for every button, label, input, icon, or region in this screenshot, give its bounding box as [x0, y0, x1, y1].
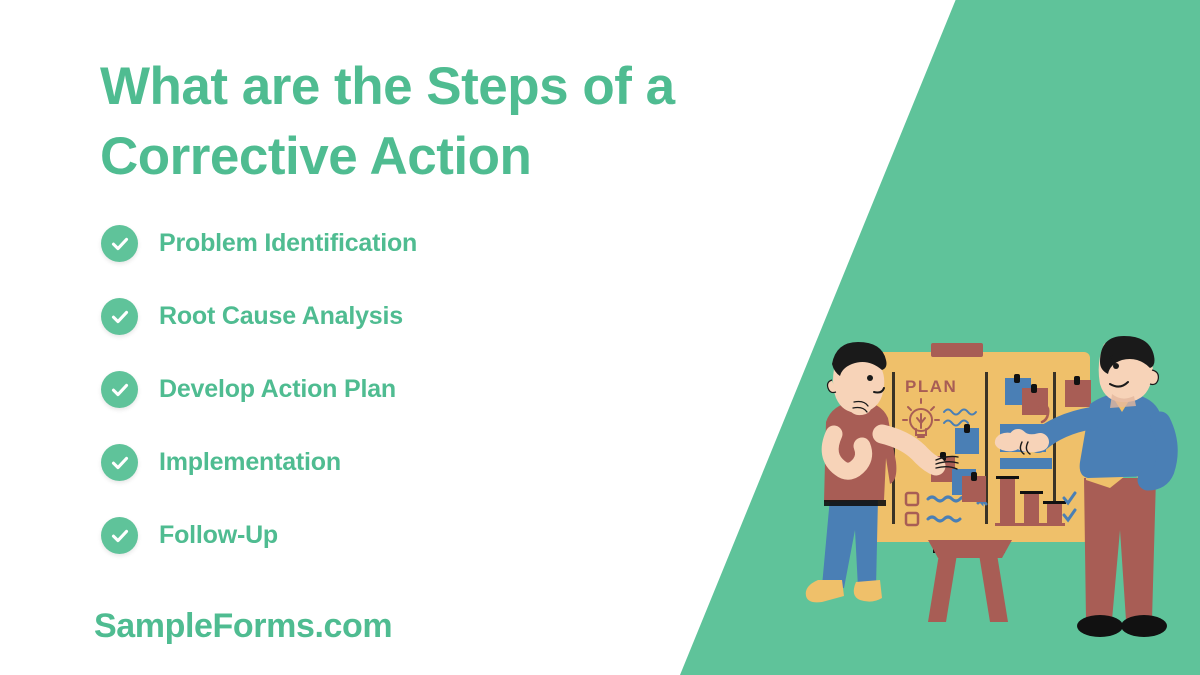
step-label: Develop Action Plan [159, 375, 396, 404]
left-person-eye [867, 375, 873, 381]
check-circle-icon [101, 371, 138, 408]
step-label: Problem Identification [159, 229, 417, 258]
infographic-canvas: What are the Steps of a Corrective Actio… [0, 0, 1200, 675]
left-content-area: What are the Steps of a Corrective Actio… [0, 0, 760, 675]
left-person-shoe-front [854, 580, 882, 602]
step-label: Follow-Up [159, 521, 278, 550]
check-circle-icon [101, 298, 138, 335]
board-plan-label: PLAN [905, 377, 957, 396]
steps-list: Problem Identification Root Cause Analys… [101, 225, 741, 590]
left-person-pants [822, 498, 878, 588]
page-title-line-2: Corrective Action [100, 122, 760, 192]
right-person-shoe-left [1077, 615, 1123, 637]
check-circle-icon [101, 444, 138, 481]
board-clip [931, 343, 983, 357]
right-person-shoe-right [1121, 615, 1167, 637]
page-title-line-1: What are the Steps of a [100, 52, 760, 122]
illustration-two-people-whiteboard: PLAN [800, 330, 1200, 675]
list-item: Root Cause Analysis [101, 298, 741, 335]
list-item: Develop Action Plan [101, 371, 741, 408]
check-circle-icon [101, 517, 138, 554]
list-item: Follow-Up [101, 517, 741, 554]
easel-tray [928, 540, 1012, 558]
list-item: Implementation [101, 444, 741, 481]
right-person-pants [1084, 478, 1156, 620]
step-label: Root Cause Analysis [159, 302, 403, 331]
left-person-shoe-back [806, 580, 844, 602]
check-circle-icon [101, 225, 138, 262]
step-label: Implementation [159, 448, 341, 477]
page-title: What are the Steps of a Corrective Actio… [100, 52, 760, 193]
brand-watermark: SampleForms.com [94, 607, 392, 646]
right-person-eye [1113, 363, 1119, 369]
list-item: Problem Identification [101, 225, 741, 262]
